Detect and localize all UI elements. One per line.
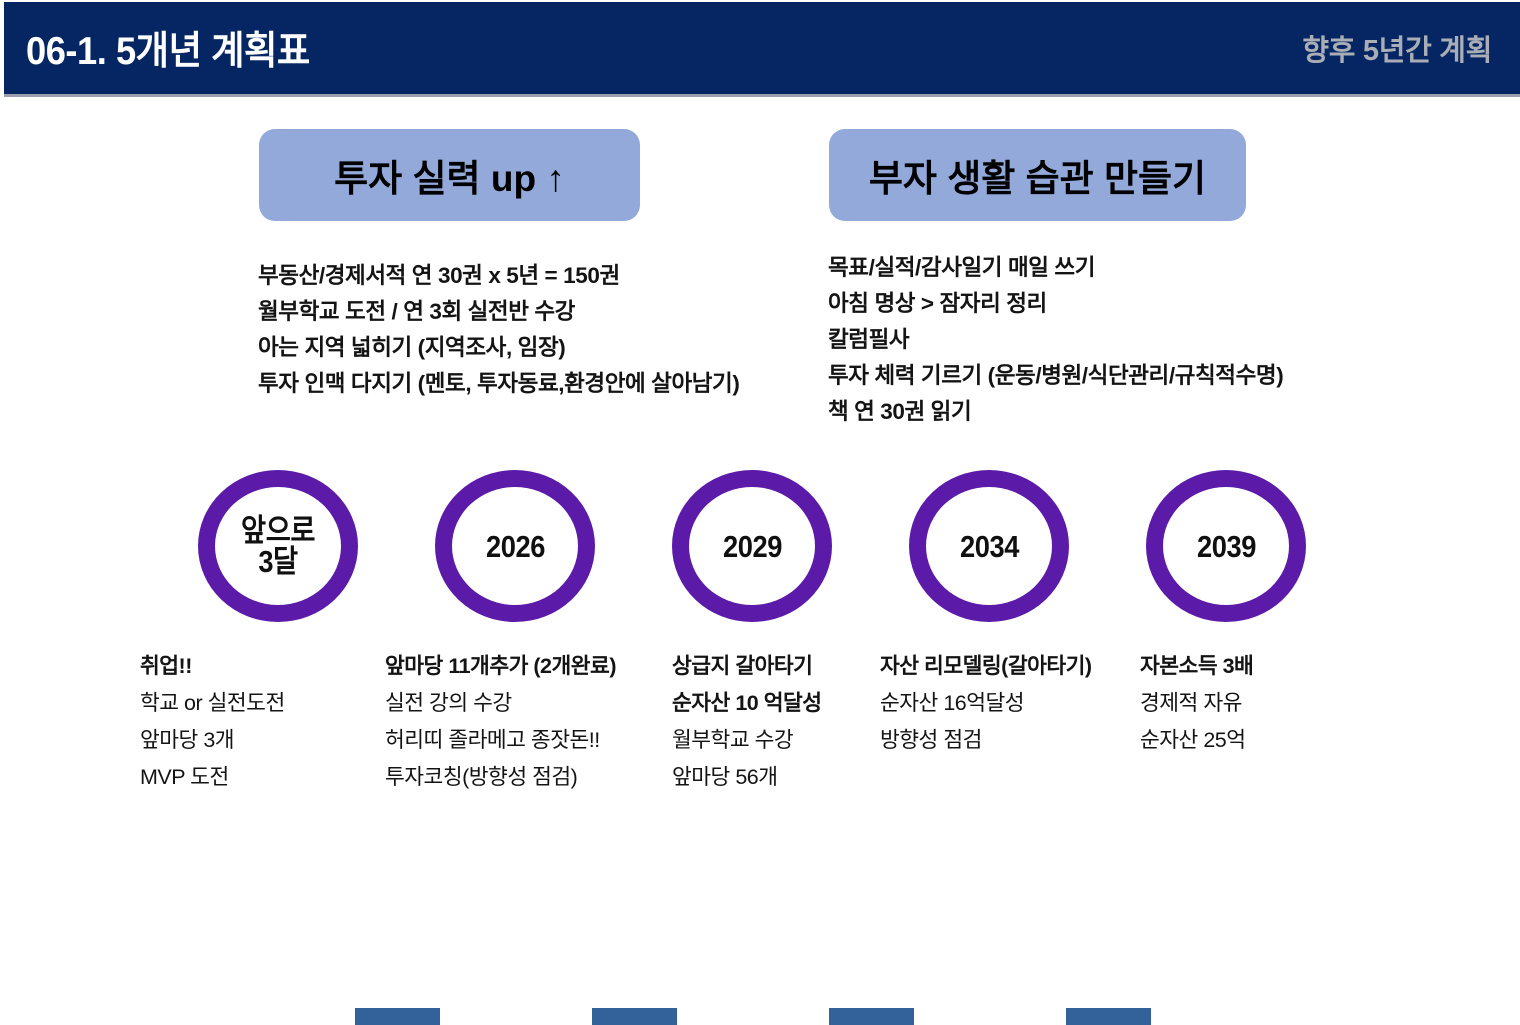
timeline: 앞으로 3달 2026 2029 2034 2039 <box>0 470 1520 630</box>
timeline-detail-5: 자본소득 3배 경제적 자유 순자산 25억 <box>1140 648 1253 759</box>
timeline-connector <box>592 1008 677 1025</box>
detail-line: 허리띠 졸라메고 종잣돈!! <box>385 722 616 759</box>
timeline-node-subtitle: 3달 <box>241 546 315 577</box>
detail-line: 순자산 25억 <box>1140 722 1253 759</box>
timeline-connector <box>355 1008 440 1025</box>
body-line: 목표/실적/감사일기 매일 쓰기 <box>828 250 1283 286</box>
timeline-node-label: 2029 <box>723 531 782 562</box>
body-line: 칼럼필사 <box>828 322 1283 358</box>
timeline-detail-1: 취업!! 학교 or 실전도전 앞마당 3개 MVP 도전 <box>140 648 285 796</box>
timeline-connector <box>1066 1008 1151 1025</box>
timeline-node-title: 2029 <box>723 529 782 564</box>
detail-line: 순자산 10 억달성 <box>672 685 822 722</box>
timeline-node-title: 앞으로 <box>241 513 315 548</box>
slide-header: 06-1. 5개년 계획표 향후 5년간 계획 <box>4 2 1520 94</box>
detail-line: 상급지 갈아타기 <box>672 648 822 685</box>
timeline-node-label: 2034 <box>960 531 1019 562</box>
section-body-investment: 부동산/경제서적 연 30권 x 5년 = 150권 월부학교 도전 / 연 3… <box>258 258 739 402</box>
timeline-node-5[interactable]: 2039 <box>1146 470 1306 622</box>
timeline-node-title: 2034 <box>960 529 1019 564</box>
timeline-node-title: 2026 <box>486 529 545 564</box>
timeline-node-4[interactable]: 2034 <box>909 470 1069 622</box>
detail-line: 실전 강의 수강 <box>385 685 616 722</box>
page-title: 06-1. 5개년 계획표 <box>26 20 310 76</box>
timeline-node-title: 2039 <box>1197 529 1256 564</box>
detail-line: 취업!! <box>140 648 285 685</box>
timeline-detail-3: 상급지 갈아타기 순자산 10 억달성 월부학교 수강 앞마당 56개 <box>672 648 822 796</box>
timeline-detail-4: 자산 리모델링(갈아타기) 순자산 16억달성 방향성 점검 <box>880 648 1092 759</box>
detail-line: 방향성 점검 <box>880 722 1092 759</box>
timeline-node-label: 2039 <box>1197 531 1256 562</box>
section-heading-investment: 투자 실력 up ↑ <box>259 129 640 221</box>
timeline-node-1[interactable]: 앞으로 3달 <box>198 470 358 622</box>
detail-line: 학교 or 실전도전 <box>140 685 285 722</box>
timeline-node-label: 2026 <box>486 531 545 562</box>
body-line: 책 연 30권 읽기 <box>828 394 1283 430</box>
detail-line: 앞마당 3개 <box>140 722 285 759</box>
detail-line: 자본소득 3배 <box>1140 648 1253 685</box>
section-heading-label: 부자 생활 습관 만들기 <box>869 148 1206 202</box>
timeline-node-label: 앞으로 3달 <box>241 515 315 577</box>
page-subtitle: 향후 5년간 계획 <box>1302 27 1492 69</box>
detail-line: 월부학교 수강 <box>672 722 822 759</box>
detail-line: 앞마당 11개추가 (2개완료) <box>385 648 616 685</box>
body-line: 투자 인맥 다지기 (멘토, 투자동료,환경안에 살아남기) <box>258 366 739 402</box>
detail-line: 앞마당 56개 <box>672 759 822 796</box>
detail-line: 경제적 자유 <box>1140 685 1253 722</box>
body-line: 부동산/경제서적 연 30권 x 5년 = 150권 <box>258 258 739 294</box>
timeline-detail-2: 앞마당 11개추가 (2개완료) 실전 강의 수강 허리띠 졸라메고 종잣돈!!… <box>385 648 616 796</box>
timeline-node-2[interactable]: 2026 <box>435 470 595 622</box>
detail-line: MVP 도전 <box>140 759 285 796</box>
detail-line: 자산 리모델링(갈아타기) <box>880 648 1092 685</box>
header-divider <box>4 94 1520 97</box>
body-line: 아는 지역 넓히기 (지역조사, 임장) <box>258 330 739 366</box>
timeline-node-3[interactable]: 2029 <box>672 470 832 622</box>
detail-line: 투자코칭(방향성 점검) <box>385 759 616 796</box>
section-body-habits: 목표/실적/감사일기 매일 쓰기 아침 명상 > 잠자리 정리 칼럼필사 투자 … <box>828 250 1283 430</box>
section-heading-habits: 부자 생활 습관 만들기 <box>829 129 1246 221</box>
body-line: 투자 체력 기르기 (운동/병원/식단관리/규칙적수명) <box>828 358 1283 394</box>
detail-line: 순자산 16억달성 <box>880 685 1092 722</box>
body-line: 아침 명상 > 잠자리 정리 <box>828 286 1283 322</box>
timeline-connector <box>829 1008 914 1025</box>
section-heading-label: 투자 실력 up ↑ <box>334 148 565 202</box>
body-line: 월부학교 도전 / 연 3회 실전반 수강 <box>258 294 739 330</box>
